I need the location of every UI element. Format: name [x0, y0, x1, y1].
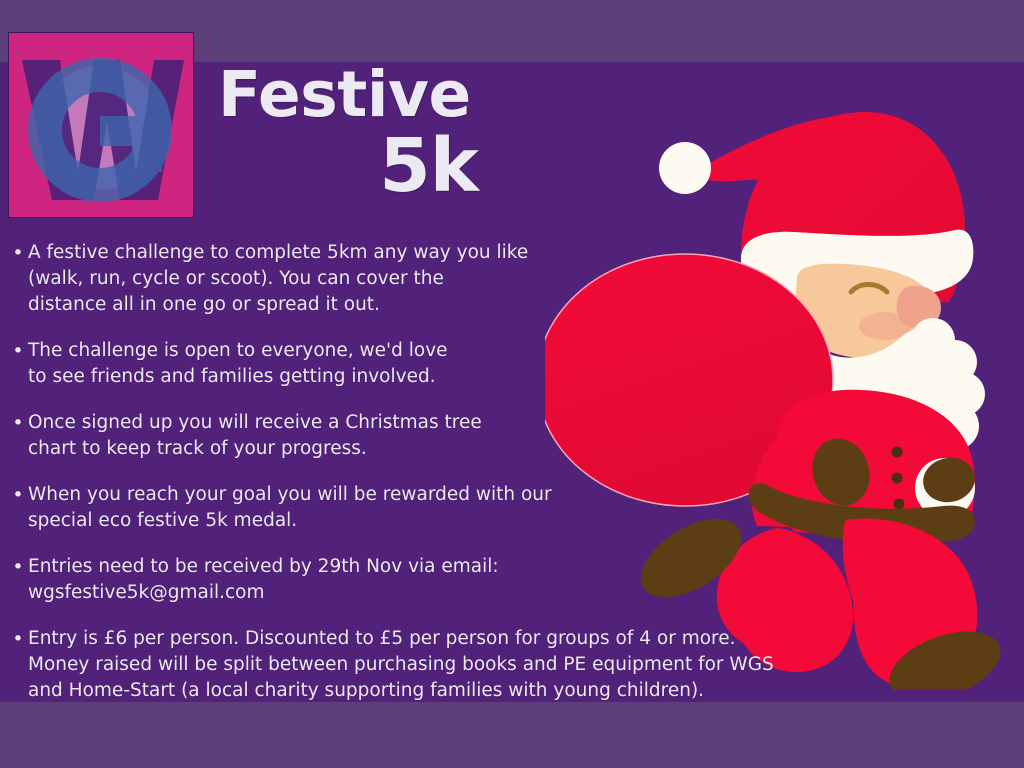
festive-5k-poster: Festive 5k — [0, 0, 1024, 768]
list-item: • The challenge is open to everyone, we'… — [8, 338, 808, 390]
santa-face — [795, 264, 936, 359]
bullet-marker: • — [8, 626, 28, 652]
santa-hat-pompom — [659, 142, 711, 194]
wgs-logo-graphic — [8, 32, 194, 218]
bullet-text: The challenge is open to everyone, we'd … — [28, 338, 448, 390]
bullet-marker: • — [8, 482, 28, 508]
santa-button — [894, 499, 905, 510]
santa-cheek — [859, 312, 911, 340]
santa-eye — [851, 285, 887, 293]
santa-button — [892, 447, 903, 458]
list-item: • A festive challenge to complete 5km an… — [8, 240, 808, 318]
santa-button — [892, 473, 903, 484]
santa-trouser-front — [843, 518, 978, 676]
bullet-text: A festive challenge to complete 5km any … — [28, 240, 528, 318]
santa-boot-front — [880, 618, 1010, 690]
bullet-list: • A festive challenge to complete 5km an… — [8, 240, 808, 724]
bullet-marker: • — [8, 338, 28, 364]
list-item-email: • Entries need to be received by 29th No… — [8, 554, 808, 606]
santa-leg-front — [853, 530, 973, 688]
santa-nose — [897, 286, 941, 328]
page-subtitle: 5k — [218, 128, 478, 204]
list-item: • Entry is £6 per person. Discounted to … — [8, 626, 808, 704]
bullet-text-email: Entries need to be received by 29th Nov … — [28, 554, 499, 606]
list-item: • When you reach your goal you will be r… — [8, 482, 808, 534]
santa-hat-tip — [688, 115, 927, 230]
list-item: • Once signed up you will receive a Chri… — [8, 410, 808, 462]
wgs-logo — [8, 32, 194, 218]
title-block: Festive 5k — [218, 62, 478, 204]
bullet-text: When you reach your goal you will be rew… — [28, 482, 552, 534]
bullet-text: Entry is £6 per person. Discounted to £5… — [28, 626, 774, 704]
page-title: Festive — [218, 62, 478, 128]
santa-mitten-left — [804, 431, 878, 513]
santa-mitten-right — [919, 453, 979, 507]
santa-mitten-cuff — [915, 458, 975, 518]
bullet-marker: • — [8, 554, 28, 580]
bullet-marker: • — [8, 410, 28, 436]
bullet-marker: • — [8, 240, 28, 266]
bullet-text: Once signed up you will receive a Christ… — [28, 410, 482, 462]
